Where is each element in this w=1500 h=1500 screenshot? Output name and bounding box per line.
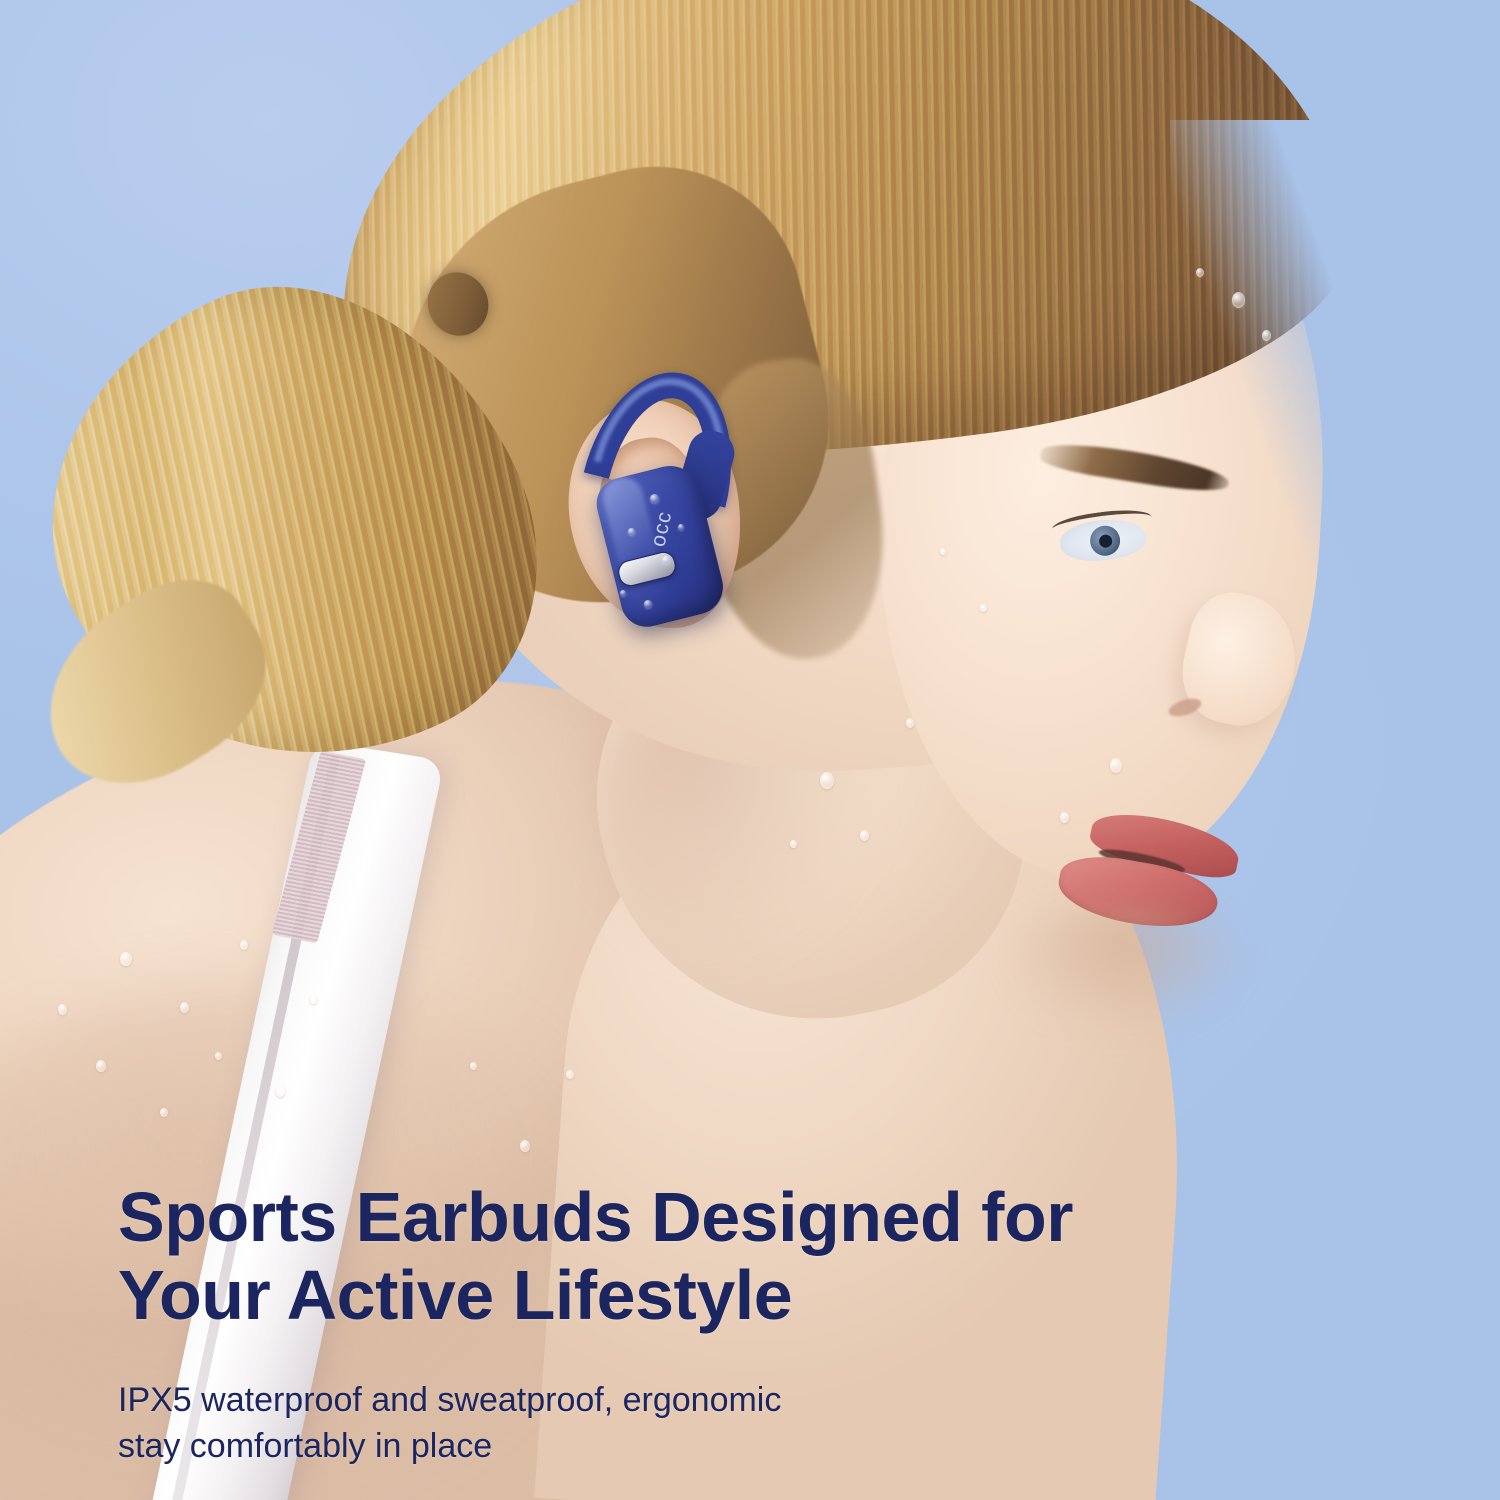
sweat-droplet xyxy=(1196,268,1204,277)
water-droplet-on-product xyxy=(620,590,626,596)
sweat-droplet xyxy=(1262,330,1271,341)
sweat-droplet xyxy=(470,1062,477,1070)
water-droplet-on-product xyxy=(644,600,652,608)
sweat-droplet xyxy=(276,1086,285,1097)
chin-shadow xyxy=(1000,905,1250,1035)
sweat-droplet xyxy=(860,830,869,841)
subtitle-line-2: stay comfortably in place xyxy=(118,1424,1018,1470)
sweat-droplet xyxy=(1060,812,1069,823)
headline: Sports Earbuds Designed for Your Active … xyxy=(118,1178,1318,1335)
water-droplet-on-product xyxy=(650,494,659,503)
sweat-droplet xyxy=(160,1108,168,1117)
sweat-droplet xyxy=(906,718,914,728)
water-droplet-on-product xyxy=(662,556,670,564)
subtitle: IPX5 waterproof and sweatproof, ergonomi… xyxy=(118,1378,1018,1469)
sweat-droplet xyxy=(1110,758,1122,773)
sweat-droplet xyxy=(566,1070,574,1079)
sweat-droplet xyxy=(940,548,946,555)
sweat-droplet xyxy=(980,604,987,612)
sweat-droplet xyxy=(240,940,248,950)
headline-line-1: Sports Earbuds Designed for xyxy=(118,1178,1318,1256)
sweat-droplet xyxy=(180,1002,189,1013)
sweat-droplet xyxy=(520,1140,530,1152)
sweat-droplet xyxy=(215,1052,222,1060)
sweat-droplet xyxy=(820,772,834,789)
marketing-image-canvas: occ Sports xyxy=(0,0,1500,1500)
subtitle-line-1: IPX5 waterproof and sweatproof, ergonomi… xyxy=(118,1378,1018,1424)
water-droplet-on-product xyxy=(678,524,684,530)
sweat-droplet xyxy=(310,996,317,1004)
sweat-droplet xyxy=(96,1060,106,1072)
headline-line-2: Your Active Lifestyle xyxy=(118,1256,1318,1334)
sweat-droplet xyxy=(120,952,132,966)
water-droplet-on-product xyxy=(628,528,635,535)
sweat-droplet xyxy=(1232,292,1245,308)
sweat-droplet xyxy=(58,1004,67,1015)
sweat-droplet xyxy=(790,840,797,848)
